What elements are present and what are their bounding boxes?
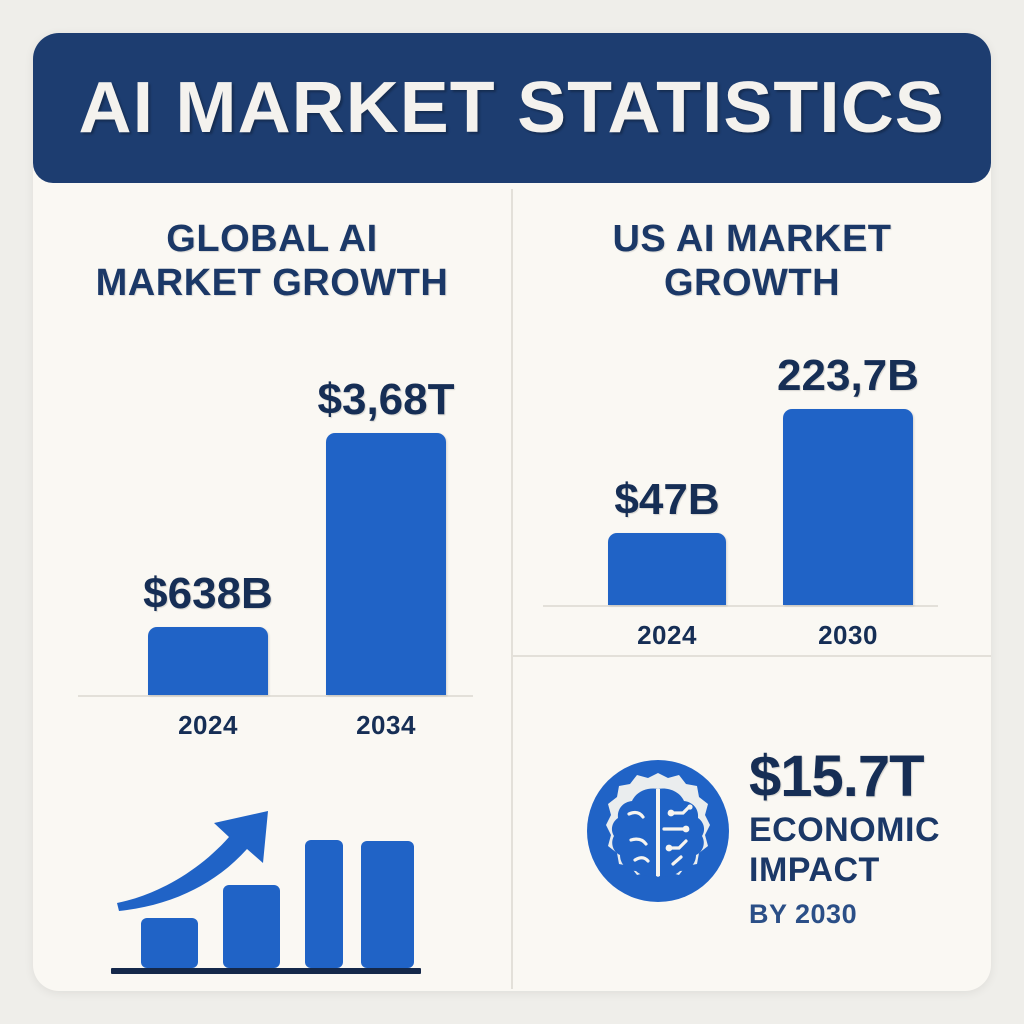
panel-left-title-line2: MARKET GROWTH bbox=[96, 262, 449, 304]
panel-left-title-line1: GLOBAL AI bbox=[166, 218, 377, 260]
impact-label-line2: IMPACT bbox=[749, 850, 991, 890]
bar-label-2024: 2024 bbox=[608, 620, 726, 651]
infographic-card: AI MARKET STATISTICS GLOBAL AI MARKET GR… bbox=[33, 33, 991, 991]
panel-right-title: US AI MARKET GROWTH bbox=[513, 217, 991, 305]
bar-value-2024: $47B bbox=[578, 475, 756, 525]
bar-2034 bbox=[326, 433, 446, 695]
economic-impact-block: $15.7T ECONOMIC IMPACT BY 2030 bbox=[553, 748, 991, 978]
impact-subtitle: BY 2030 bbox=[749, 898, 991, 930]
header-banner: AI MARKET STATISTICS bbox=[33, 33, 991, 183]
chart-baseline bbox=[78, 695, 473, 697]
impact-amount: $15.7T bbox=[749, 748, 991, 806]
bar-value-2024: $638B bbox=[118, 569, 298, 619]
chart-us-ai-market: $47B 223,7B 2024 2030 bbox=[543, 309, 938, 659]
page-title: AI MARKET STATISTICS bbox=[79, 72, 945, 144]
chart-baseline bbox=[543, 605, 938, 607]
bar-label-2034: 2034 bbox=[326, 710, 446, 741]
bar-2024 bbox=[148, 627, 268, 695]
bar-label-2024: 2024 bbox=[148, 710, 268, 741]
impact-label-line1: ECONOMIC bbox=[749, 810, 991, 850]
bar-value-2034: $3,68T bbox=[291, 375, 481, 425]
bar-2030 bbox=[783, 409, 913, 605]
panel-global-ai-market: GLOBAL AI MARKET GROWTH $638B $3,68T 202… bbox=[33, 189, 511, 989]
bar-value-2030: 223,7B bbox=[733, 351, 963, 401]
bar-2024 bbox=[608, 533, 726, 605]
chart-global-ai-market: $638B $3,68T 2024 2034 bbox=[78, 349, 473, 749]
ai-brain-gear-icon bbox=[585, 758, 731, 904]
bar-label-2030: 2030 bbox=[783, 620, 913, 651]
panel-right-title-line2: GROWTH bbox=[664, 262, 840, 304]
economic-impact-text: $15.7T ECONOMIC IMPACT BY 2030 bbox=[749, 748, 991, 931]
panel-left-title: GLOBAL AI MARKET GROWTH bbox=[33, 217, 511, 305]
growth-bars-arrow-icon bbox=[53, 789, 463, 989]
panel-right-title-line1: US AI MARKET bbox=[612, 218, 891, 260]
